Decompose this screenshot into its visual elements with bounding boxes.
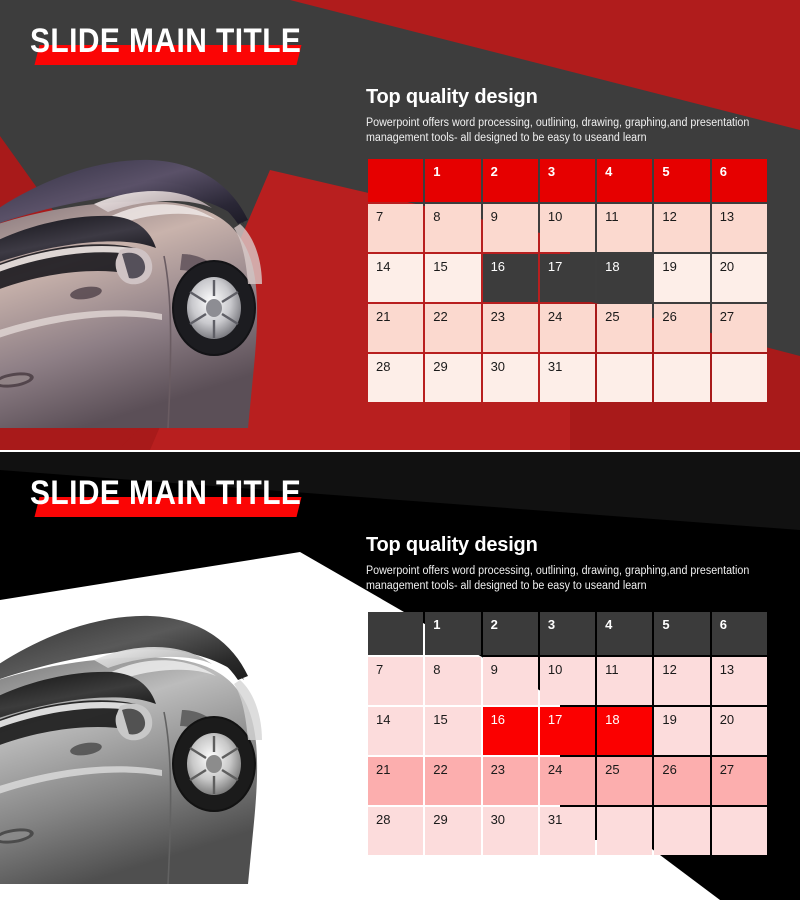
calendar-header-cell [368, 159, 423, 202]
calendar-day-cell[interactable]: 10 [540, 657, 595, 705]
calendar-day-cell[interactable] [712, 354, 767, 402]
calendar-header-cell: 4 [597, 612, 652, 655]
calendar-day-cell[interactable]: 15 [425, 254, 480, 302]
calendar-day-cell[interactable]: 29 [425, 807, 480, 855]
section-heading: Top quality design [366, 86, 770, 109]
calendar-day-cell[interactable]: 27 [712, 757, 767, 805]
calendar-day-cell[interactable]: 14 [368, 254, 423, 302]
slide-deck: SLIDE MAIN TITLE Top quality design Powe… [0, 0, 800, 900]
car-illustration [0, 584, 316, 884]
calendar-header-cell: 1 [425, 612, 480, 655]
calendar-day-cell[interactable]: 15 [425, 707, 480, 755]
calendar-day-cell[interactable] [712, 807, 767, 855]
calendar-header-cell [368, 612, 423, 655]
calendar-day-cell[interactable]: 29 [425, 354, 480, 402]
content-column: Top quality design Powerpoint offers wor… [366, 86, 770, 146]
calendar-day-cell[interactable]: 8 [425, 204, 480, 252]
calendar-day-cell[interactable]: 11 [597, 657, 652, 705]
calendar-day-cell[interactable]: 21 [368, 304, 423, 352]
calendar-day-cell[interactable]: 24 [540, 757, 595, 805]
calendar-header-cell: 3 [540, 159, 595, 202]
calendar-day-cell[interactable]: 28 [368, 354, 423, 402]
calendar-header-cell: 6 [712, 612, 767, 655]
calendar-day-cell[interactable]: 30 [483, 807, 538, 855]
calendar-header-cell: 5 [654, 612, 709, 655]
calendar-day-cell-selected[interactable]: 18 [597, 254, 652, 302]
calendar-header-cell: 6 [712, 159, 767, 202]
calendar-week-row: 7 8 9 10 11 12 13 [368, 657, 767, 705]
calendar-header-row: 1 2 3 4 5 6 [368, 612, 767, 655]
calendar-day-cell-selected[interactable]: 18 [597, 707, 652, 755]
calendar-day-cell[interactable]: 11 [597, 204, 652, 252]
calendar-day-cell[interactable]: 25 [597, 304, 652, 352]
calendar-day-cell[interactable]: 30 [483, 354, 538, 402]
section-description: Powerpoint offers word processing, outli… [366, 116, 766, 146]
calendar-day-cell[interactable]: 27 [712, 304, 767, 352]
calendar-day-cell[interactable] [654, 807, 709, 855]
calendar-day-cell[interactable]: 31 [540, 354, 595, 402]
calendar-day-cell[interactable]: 19 [654, 707, 709, 755]
calendar-header-cell: 5 [654, 159, 709, 202]
slide-title-group: SLIDE MAIN TITLE [30, 472, 338, 520]
calendar-day-cell[interactable] [597, 354, 652, 402]
calendar-day-cell[interactable]: 12 [654, 204, 709, 252]
calendar-week-row: 21 22 23 24 25 26 27 [368, 757, 767, 805]
calendar-day-cell[interactable]: 9 [483, 204, 538, 252]
page-title: SLIDE MAIN TITLE [30, 472, 301, 514]
calendar-day-cell[interactable]: 23 [483, 304, 538, 352]
section-description: Powerpoint offers word processing, outli… [366, 564, 766, 594]
calendar-week-row: 21 22 23 24 25 26 27 [368, 304, 767, 352]
calendar-day-cell-selected[interactable]: 17 [540, 254, 595, 302]
calendar-week-row: 7 8 9 10 11 12 13 [368, 204, 767, 252]
calendar-day-cell[interactable]: 26 [654, 304, 709, 352]
calendar-day-cell[interactable]: 20 [712, 707, 767, 755]
page-title: SLIDE MAIN TITLE [30, 20, 301, 62]
calendar-day-cell[interactable]: 7 [368, 657, 423, 705]
calendar-day-cell[interactable] [654, 354, 709, 402]
calendar-day-cell[interactable] [597, 807, 652, 855]
calendar-day-cell[interactable]: 21 [368, 757, 423, 805]
calendar-week-row: 14 15 16 17 18 19 20 [368, 254, 767, 302]
calendar-day-cell[interactable]: 22 [425, 304, 480, 352]
calendar-header-cell: 3 [540, 612, 595, 655]
calendar-day-cell[interactable]: 20 [712, 254, 767, 302]
calendar-table: 1 2 3 4 5 6 7 8 9 10 11 12 13 14 [366, 610, 769, 857]
calendar-day-cell-selected[interactable]: 16 [483, 254, 538, 302]
calendar-day-cell[interactable]: 13 [712, 657, 767, 705]
calendar-header-cell: 2 [483, 159, 538, 202]
calendar-day-cell[interactable]: 10 [540, 204, 595, 252]
calendar-header-cell: 2 [483, 612, 538, 655]
calendar-header-row: 1 2 3 4 5 6 [368, 159, 767, 202]
calendar-day-cell[interactable]: 19 [654, 254, 709, 302]
calendar-day-cell[interactable]: 12 [654, 657, 709, 705]
car-illustration [0, 128, 316, 428]
calendar-day-cell[interactable]: 25 [597, 757, 652, 805]
calendar-table: 1 2 3 4 5 6 7 8 9 10 11 12 13 14 [366, 157, 769, 404]
section-heading: Top quality design [366, 534, 770, 557]
calendar-day-cell[interactable]: 28 [368, 807, 423, 855]
calendar-day-cell[interactable]: 22 [425, 757, 480, 805]
calendar-week-row: 28 29 30 31 [368, 354, 767, 402]
calendar-day-cell-selected[interactable]: 17 [540, 707, 595, 755]
slide-title-group: SLIDE MAIN TITLE [30, 20, 338, 68]
calendar-day-cell[interactable]: 31 [540, 807, 595, 855]
calendar-day-cell[interactable]: 8 [425, 657, 480, 705]
calendar-day-cell-selected[interactable]: 16 [483, 707, 538, 755]
calendar-day-cell[interactable]: 23 [483, 757, 538, 805]
calendar-header-cell: 4 [597, 159, 652, 202]
calendar-week-row: 14 15 16 17 18 19 20 [368, 707, 767, 755]
calendar-day-cell[interactable]: 14 [368, 707, 423, 755]
slide-1: SLIDE MAIN TITLE Top quality design Powe… [0, 0, 800, 450]
slide-2: SLIDE MAIN TITLE Top quality design Powe… [0, 452, 800, 900]
calendar-day-cell[interactable]: 24 [540, 304, 595, 352]
calendar-day-cell[interactable]: 9 [483, 657, 538, 705]
calendar-header-cell: 1 [425, 159, 480, 202]
calendar-day-cell[interactable]: 13 [712, 204, 767, 252]
content-column: Top quality design Powerpoint offers wor… [366, 534, 770, 594]
calendar-week-row: 28 29 30 31 [368, 807, 767, 855]
calendar-day-cell[interactable]: 26 [654, 757, 709, 805]
calendar-day-cell[interactable]: 7 [368, 204, 423, 252]
